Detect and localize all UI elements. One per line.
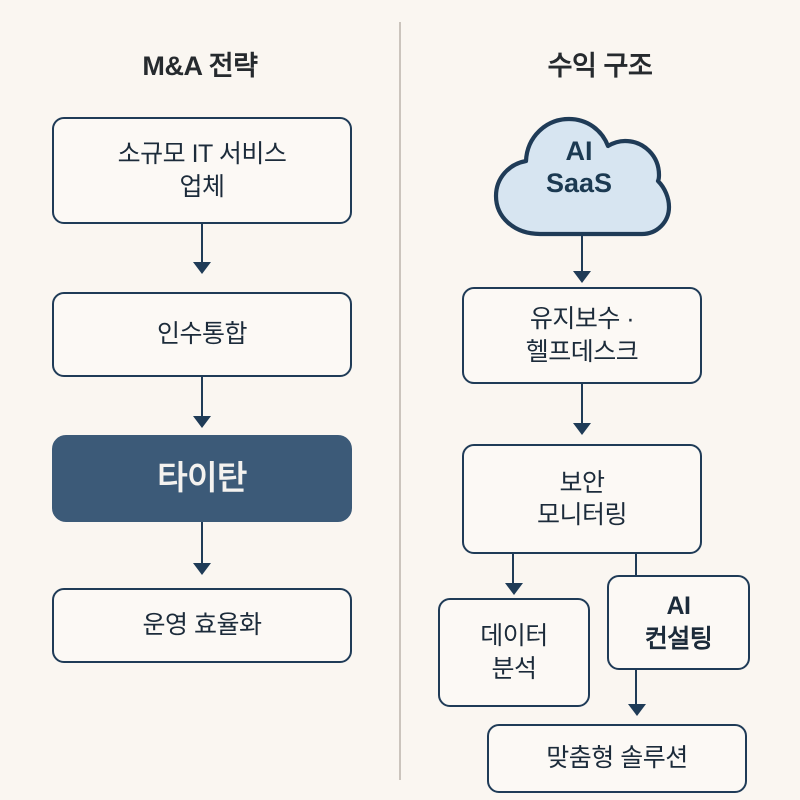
node-operational-efficiency[interactable]: 운영 효율화: [52, 588, 352, 663]
node-ai-saas-cloud[interactable]: AI SaaS: [484, 110, 674, 238]
node-maintenance-helpdesk[interactable]: 유지보수 · 헬프데스크: [462, 287, 702, 384]
node-titan[interactable]: 타이탄: [52, 435, 352, 522]
node-data-analysis[interactable]: 데이터 분석: [438, 598, 590, 707]
node-acquisition-integration[interactable]: 인수통합: [52, 292, 352, 377]
node-security-monitoring[interactable]: 보안 모니터링: [462, 444, 702, 554]
diagram-canvas: M&A 전략 소규모 IT 서비스 업체 인수통합 타이탄 운영 효율화 수익 …: [0, 0, 800, 800]
column-divider: [399, 22, 401, 780]
left-column-title: M&A 전략: [0, 44, 400, 83]
node-custom-solution[interactable]: 맞춤형 솔루션: [487, 724, 747, 793]
cloud-shape-icon: [484, 110, 674, 238]
right-column-title: 수익 구조: [400, 44, 800, 83]
node-small-it-vendors[interactable]: 소규모 IT 서비스 업체: [52, 117, 352, 224]
node-ai-consulting[interactable]: AI 컨설팅: [607, 575, 750, 670]
